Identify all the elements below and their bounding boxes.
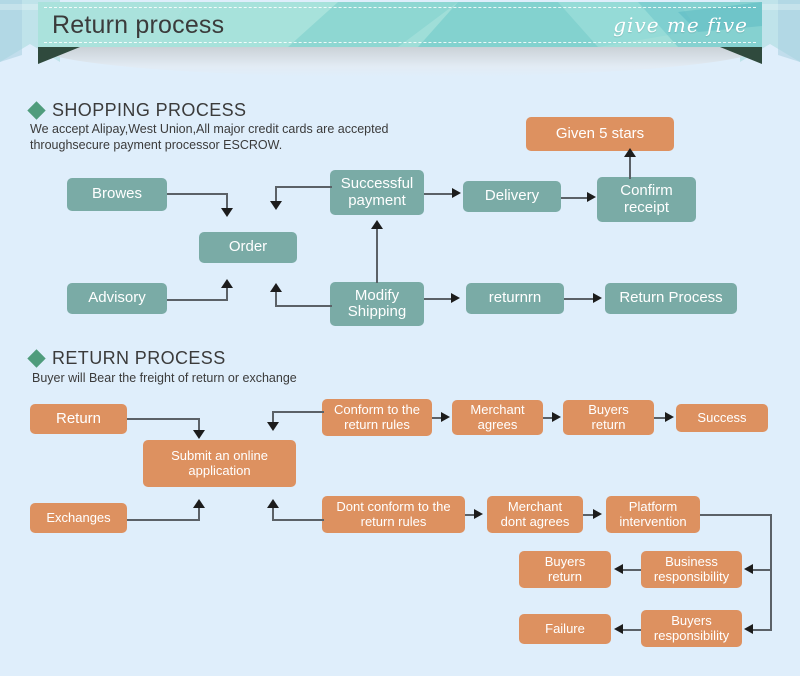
connector-to-buyers-responsibility <box>752 629 772 631</box>
node-delivery[interactable]: Delivery <box>463 181 561 212</box>
node-successful-payment[interactable]: Successful payment <box>330 170 424 215</box>
diamond-icon <box>27 101 45 119</box>
connector-modify-returnrn <box>424 298 453 300</box>
node-failure[interactable]: Failure <box>519 614 611 644</box>
node-returnrn[interactable]: returnrn <box>466 283 564 314</box>
arrow-dontconform-up <box>267 499 279 508</box>
arrow-to-business-responsibility <box>744 564 753 574</box>
connector-to-business-responsibility <box>752 569 772 571</box>
arrow-merchantdont-platform <box>593 509 602 519</box>
shopping-process-description: We accept Alipay,West Union,All major cr… <box>30 122 490 153</box>
arrow-payment-delivery <box>452 188 461 198</box>
node-platform-intervention[interactable]: Platform intervention <box>606 496 700 533</box>
connector-modify-up <box>275 291 277 306</box>
arrow-advisory-up <box>221 279 233 288</box>
connector-delivery-confirm <box>561 197 589 199</box>
node-advisory[interactable]: Advisory <box>67 283 167 314</box>
connector-return-submit <box>127 418 200 420</box>
node-buyers-responsibility[interactable]: Buyers responsibility <box>641 610 742 647</box>
connector-payment-left <box>275 186 332 188</box>
node-return[interactable]: Return <box>30 404 127 434</box>
arrow-buyers-success <box>665 412 674 422</box>
connector-platform-right <box>700 514 772 516</box>
node-buyers-return-2[interactable]: Buyers return <box>519 551 611 588</box>
node-exchanges[interactable]: Exchanges <box>30 503 127 533</box>
node-modify-shipping[interactable]: Modify Shipping <box>330 282 424 326</box>
node-submit-online-application[interactable]: Submit an online application <box>143 440 296 487</box>
arrow-business-buyersreturn <box>614 564 623 574</box>
arrow-exchanges-up <box>193 499 205 508</box>
return-process-title: RETURN PROCESS <box>52 348 226 369</box>
node-dont-conform-to-return-rules[interactable]: Dont conform to the return rules <box>322 496 465 533</box>
page-title: Return process <box>52 5 224 45</box>
node-browes[interactable]: Browes <box>67 178 167 211</box>
arrow-conform-down <box>267 422 279 431</box>
connector-payment-delivery <box>424 193 455 195</box>
node-conform-to-return-rules[interactable]: Conform to the return rules <box>322 399 432 436</box>
node-confirm-receipt[interactable]: Confirm receipt <box>597 177 696 222</box>
node-merchant-agrees[interactable]: Merchant agrees <box>452 400 543 435</box>
arrow-payment-down <box>270 201 282 210</box>
arrow-buyersresp-failure <box>614 624 623 634</box>
arrow-returnrn-returnprocess <box>593 293 602 303</box>
connector-advisory-right <box>167 299 228 301</box>
connector-buyersresp-failure <box>622 629 641 631</box>
arrow-dontconform-merchantdont <box>474 509 483 519</box>
diamond-icon <box>27 349 45 367</box>
connector-conform-left <box>272 411 324 413</box>
connector-business-buyersreturn <box>622 569 641 571</box>
connector-confirm-stars <box>629 155 631 179</box>
page-banner: Return process give me five <box>0 0 800 92</box>
connector-dontconform-up <box>272 506 274 520</box>
arrow-delivery-confirm <box>587 192 596 202</box>
shopping-process-heading: SHOPPING PROCESS <box>30 100 246 121</box>
connector-advisory-up <box>226 287 228 300</box>
node-business-responsibility[interactable]: Business responsibility <box>641 551 742 588</box>
return-process-heading: RETURN PROCESS <box>30 348 226 369</box>
arrow-modify-payment <box>371 220 383 229</box>
banner-bar: Return process give me five <box>38 2 762 47</box>
arrow-conform-merchant <box>441 412 450 422</box>
banner-drop-shadow <box>38 47 762 77</box>
node-return-process[interactable]: Return Process <box>605 283 737 314</box>
banner-fold-right <box>720 47 762 64</box>
connector-browes-order <box>167 193 228 195</box>
banner-fold-left <box>38 47 80 64</box>
connector-platform-down <box>770 514 772 631</box>
node-merchant-dont-agrees[interactable]: Merchant dont agrees <box>487 496 583 533</box>
arrow-return-submit <box>193 430 205 439</box>
node-given-5-stars[interactable]: Given 5 stars <box>526 117 674 151</box>
banner-script-text: give me five <box>613 8 748 42</box>
arrow-modify-returnrn <box>451 293 460 303</box>
arrow-to-buyers-responsibility <box>744 624 753 634</box>
node-success[interactable]: Success <box>676 404 768 432</box>
connector-dontconform-left <box>272 519 324 521</box>
arrow-modify-up <box>270 283 282 292</box>
arrow-merchant-buyers <box>552 412 561 422</box>
connector-exchanges-right <box>127 519 200 521</box>
connector-modify-left <box>275 305 332 307</box>
connector-returnrn-returnprocess <box>564 298 595 300</box>
connector-exchanges-up <box>198 506 200 520</box>
shopping-process-title: SHOPPING PROCESS <box>52 100 246 121</box>
return-process-description: Buyer will Bear the freight of return or… <box>32 371 532 387</box>
connector-modify-payment <box>376 228 378 283</box>
arrow-browes-order <box>221 208 233 217</box>
node-buyers-return-1[interactable]: Buyers return <box>563 400 654 435</box>
node-order[interactable]: Order <box>199 232 297 263</box>
arrow-confirm-stars <box>624 148 636 157</box>
